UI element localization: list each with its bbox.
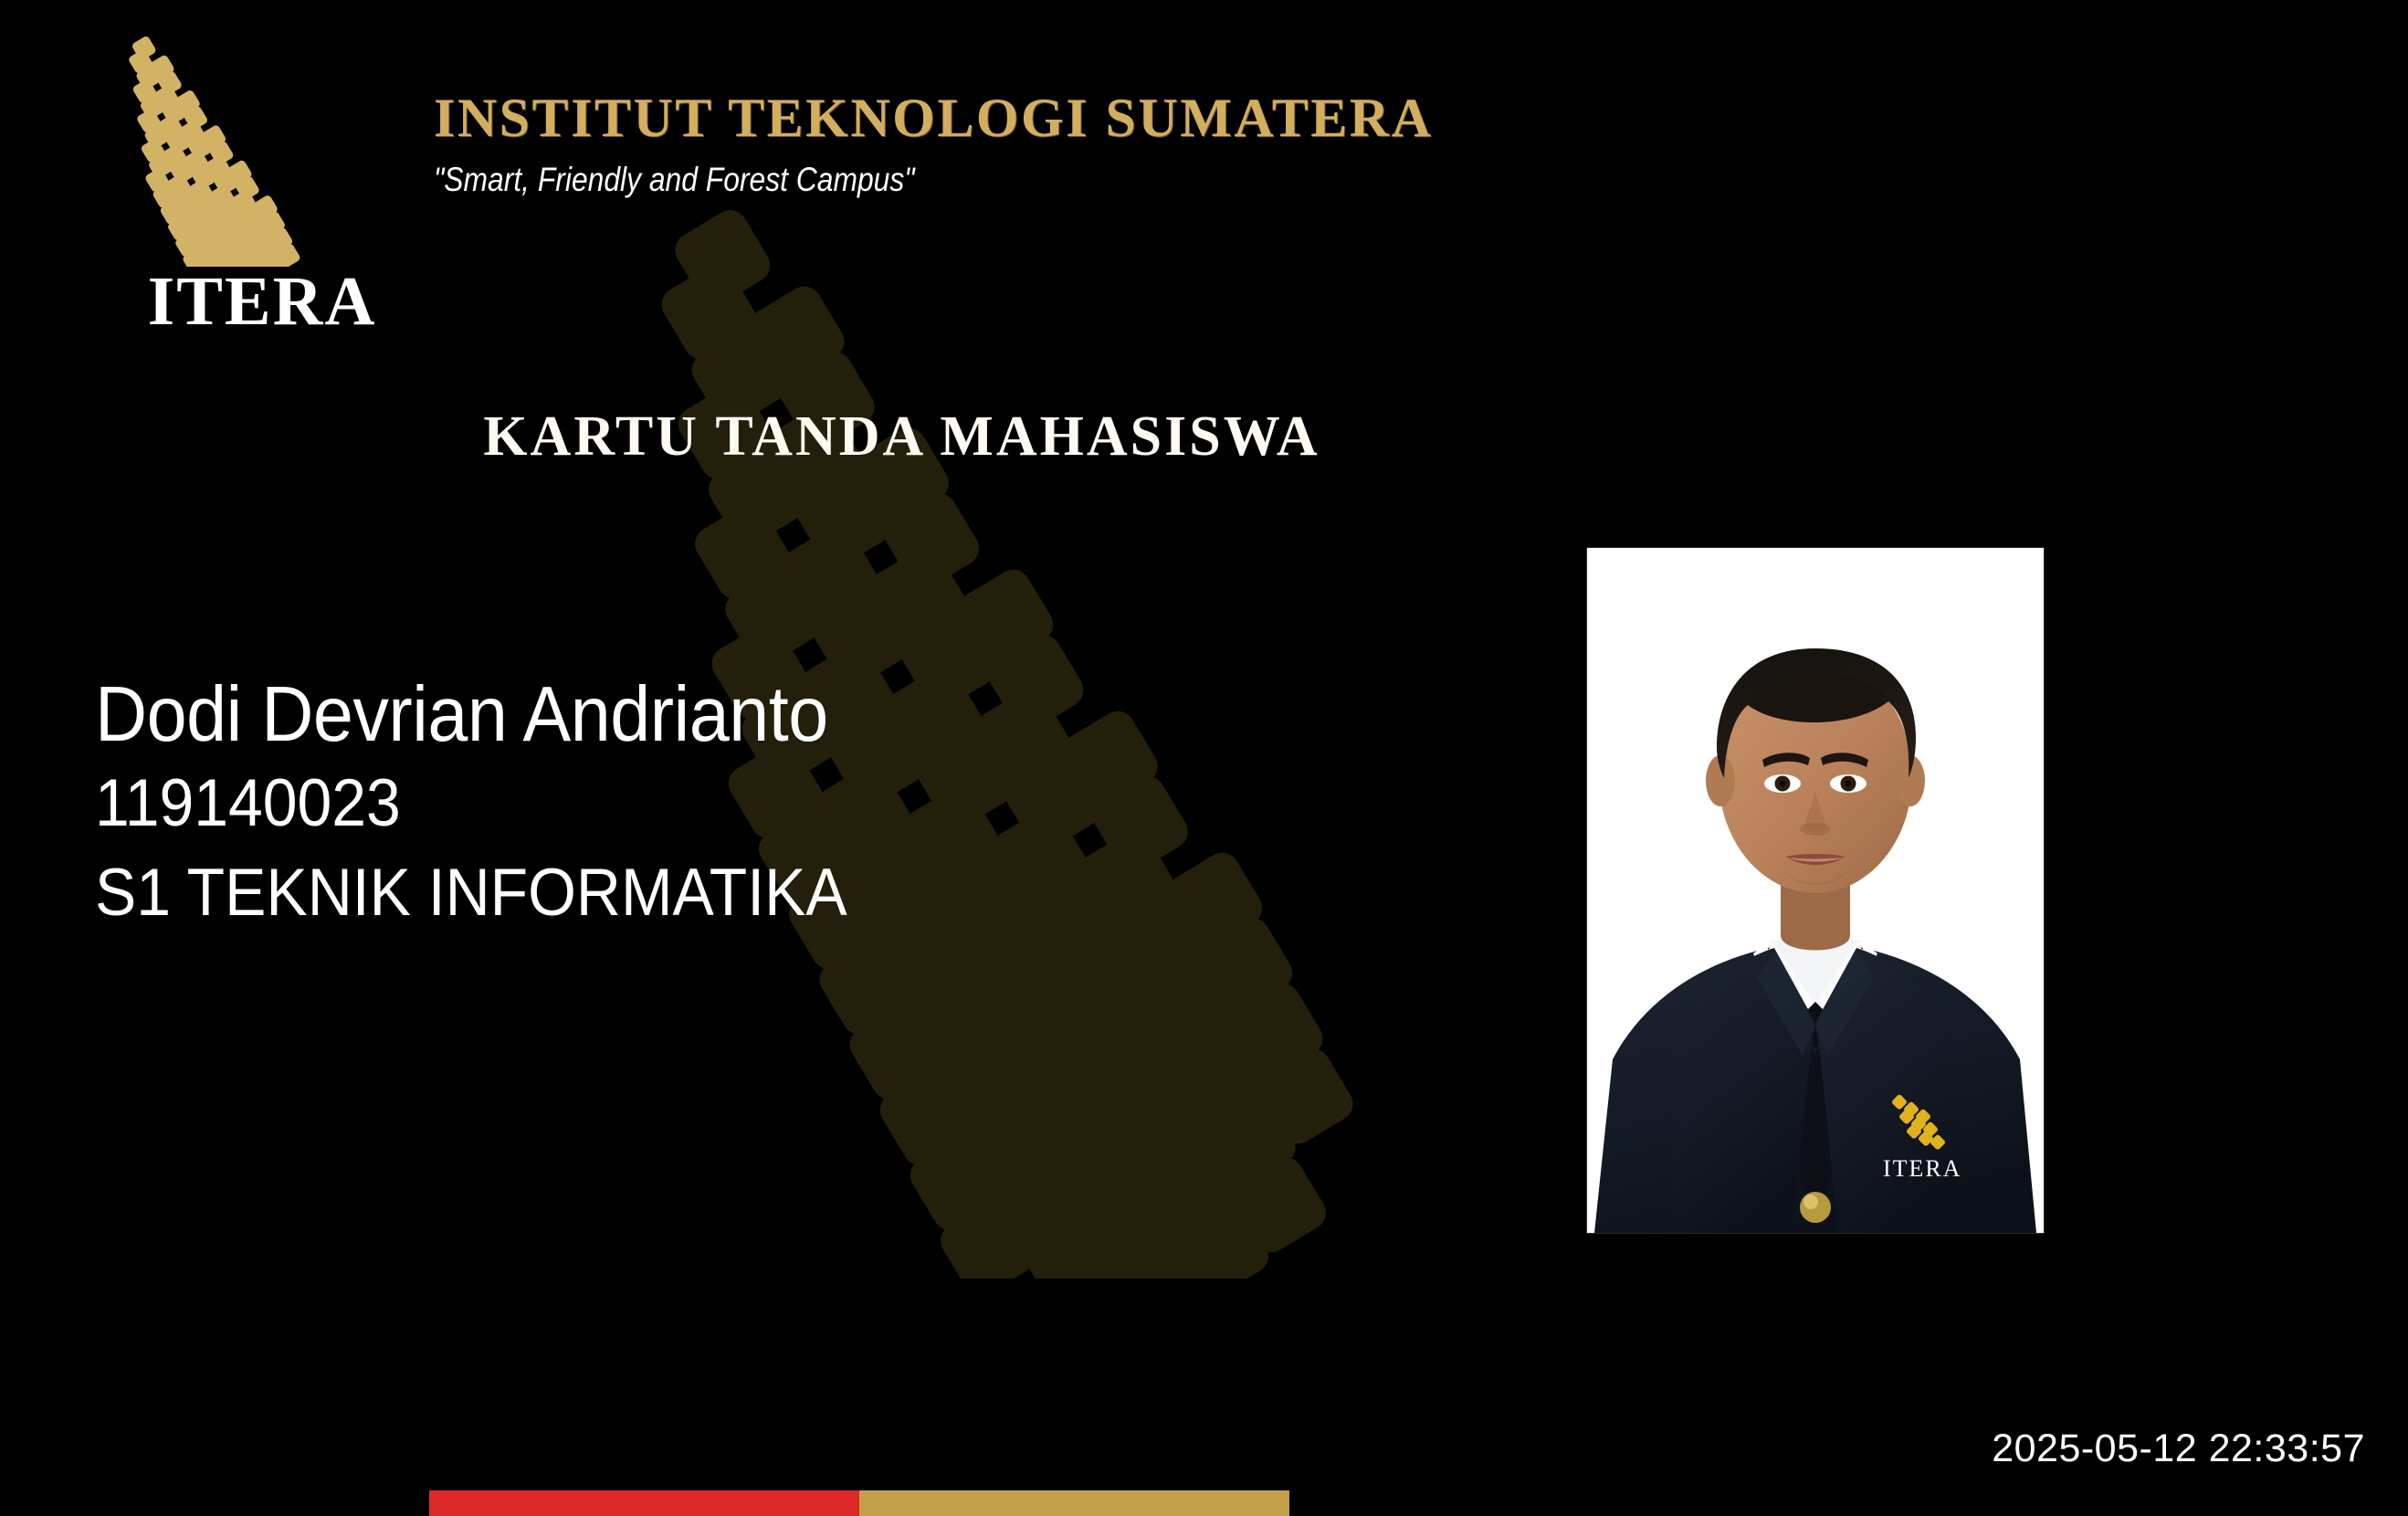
- svg-text:ITERA: ITERA: [1883, 1155, 1962, 1182]
- itera-logo: ITERA: [117, 22, 391, 287]
- student-photo: ITERA: [1587, 548, 2044, 1233]
- itera-wordmark: ITERA: [133, 267, 391, 336]
- student-portrait-illustration: ITERA: [1587, 548, 2044, 1233]
- timestamp: 2025-05-12 22:33:57: [1992, 1427, 2365, 1471]
- student-details: Dodi Devrian Andrianto 119140023 S1 TEKN…: [95, 671, 904, 935]
- student-nim: 119140023: [95, 758, 847, 850]
- itera-sumatra-diamond-icon: [117, 22, 391, 267]
- student-name: Dodi Devrian Andrianto: [95, 671, 847, 758]
- institute-tagline: "Smart, Friendly and Forest Campus": [434, 162, 1293, 199]
- accent-bar: [429, 1490, 1289, 1516]
- accent-bar-gold: [859, 1490, 1289, 1516]
- card-title: KARTU TANDA MAHASISWA: [0, 405, 1803, 469]
- accent-bar-red: [429, 1490, 859, 1516]
- student-program: S1 TEKNIK INFORMATIKA: [95, 850, 847, 935]
- institute-name: INSTITUT TEKNOLOGI SUMATERA: [434, 89, 1433, 147]
- header-text-block: INSTITUT TEKNOLOGI SUMATERA "Smart, Frie…: [434, 89, 1433, 199]
